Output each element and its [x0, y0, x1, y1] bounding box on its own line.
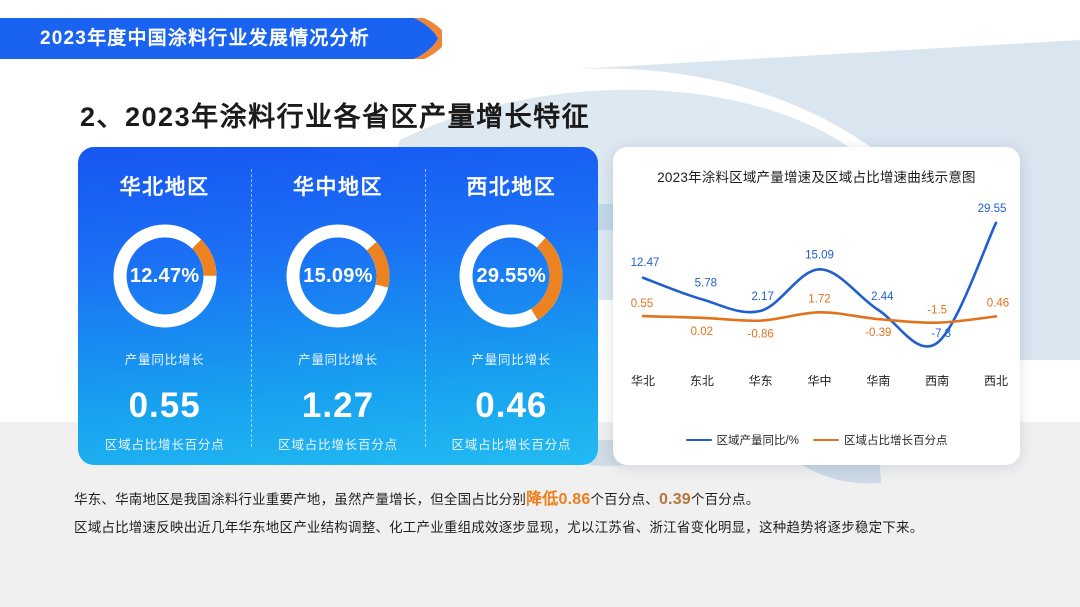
chart-value-label: -0.86	[748, 329, 774, 341]
bottom-text-line-1: 华东、华南地区是我国涂料行业重要产地，虽然产量增长，但全国占比分别降低0.86个…	[74, 486, 1014, 514]
chart-value-label: 1.72	[808, 293, 830, 305]
chart-value-label: 2.17	[751, 291, 773, 303]
chart-value-label: 0.55	[631, 298, 653, 310]
line-chart-card: 2023年涂料区域产量增速及区域占比增速曲线示意图 12.475.782.171…	[613, 147, 1020, 465]
slide-page: 2023年度中国涂料行业发展情况分析 2、2023年涂料行业各省区产量增长特征 …	[0, 0, 1080, 607]
chart-value-label: -0.39	[865, 327, 891, 339]
donut-caption: 产量同比增长	[125, 349, 205, 368]
bottom-text-line-2: 区域占比增速反映出近几年华东地区产业结构调整、化工产业重组成效逐步显现，尤以江苏…	[74, 514, 1014, 542]
bottom-text-block: 华东、华南地区是我国涂料行业重要产地，虽然产量增长，但全国占比分别降低0.86个…	[74, 486, 1014, 542]
chart-legend: 区域产量同比/% 区域占比增长百分点	[613, 432, 1020, 448]
stats-card: 华北地区 12.47% 产量同比增长 0.55 区域占比增长百分点 华中地区 1…	[78, 147, 598, 465]
chart-x-tick-label: 华北	[631, 374, 655, 388]
big-number: 0.55	[129, 388, 201, 423]
donut-value: 15.09%	[279, 217, 397, 335]
legend-label: 区域产量同比/%	[717, 432, 799, 448]
chart-x-tick-label: 华南	[866, 373, 890, 388]
legend-label: 区域占比增长百分点	[844, 432, 948, 448]
chart-value-label: 12.47	[631, 257, 660, 269]
big-number-caption: 区域占比增长百分点	[451, 434, 571, 453]
legend-item-share: 区域占比增长百分点	[813, 432, 948, 448]
chart-value-label: 5.78	[695, 277, 717, 289]
region-label: 华中地区	[293, 171, 383, 201]
legend-swatch-line	[813, 439, 839, 442]
donut-chart-xibei: 29.55%	[452, 217, 570, 335]
donut-value: 29.55%	[452, 217, 570, 335]
region-label: 西北地区	[466, 171, 556, 201]
bt1-part-a: 华东、华南地区是我国涂料行业重要产地，虽然产量增长，但全国占比分别	[74, 492, 526, 507]
big-number: 1.27	[302, 388, 374, 423]
donut-caption: 产量同比增长	[471, 349, 551, 368]
stat-column-huabei: 华北地区 12.47% 产量同比增长 0.55 区域占比增长百分点	[78, 147, 251, 465]
chart-value-label: 29.55	[978, 203, 1007, 215]
donut-chart-huazhong: 15.09%	[279, 217, 397, 335]
bt1-highlight-1: 降低0.86	[526, 491, 590, 508]
bt1-part-b: 个百分点、	[590, 492, 659, 507]
page-title: 2、2023年涂料行业各省区产量增长特征	[80, 95, 590, 134]
stat-column-xibei: 西北地区 29.55% 产量同比增长 0.46 区域占比增长百分点	[425, 147, 598, 465]
big-number: 0.46	[475, 388, 547, 423]
donut-value: 12.47%	[106, 217, 224, 335]
donut-chart-huabei: 12.47%	[106, 217, 224, 335]
chart-value-label: -1.5	[927, 305, 947, 317]
chart-x-tick-label: 西北	[984, 374, 1008, 388]
big-number-caption: 区域占比增长百分点	[278, 434, 398, 453]
line-chart-plot: 12.475.782.1715.092.44-7.829.550.550.02-…	[613, 187, 1020, 422]
header-banner: 2023年度中国涂料行业发展情况分析	[0, 18, 442, 59]
chart-x-tick-label: 西南	[925, 373, 949, 388]
chart-x-tick-label: 华东	[749, 374, 773, 388]
chart-value-label: 0.02	[691, 326, 713, 338]
region-label: 华北地区	[120, 171, 210, 201]
chart-value-label: 2.44	[871, 291, 894, 303]
banner-title: 2023年度中国涂料行业发展情况分析	[40, 18, 370, 59]
bt1-highlight-2: 0.39	[659, 491, 691, 508]
chart-value-label: 15.09	[805, 249, 834, 261]
chart-x-tick-label: 华中	[807, 373, 831, 388]
chart-value-label: -7.8	[931, 328, 951, 340]
stat-column-huazhong: 华中地区 15.09% 产量同比增长 1.27 区域占比增长百分点	[251, 147, 424, 465]
legend-swatch-line	[686, 439, 712, 442]
chart-x-tick-label: 东北	[690, 374, 714, 388]
chart-value-label: 0.46	[987, 297, 1009, 309]
chart-title: 2023年涂料区域产量增速及区域占比增速曲线示意图	[613, 166, 1020, 186]
big-number-caption: 区域占比增长百分点	[105, 434, 225, 453]
donut-caption: 产量同比增长	[298, 349, 378, 368]
legend-item-production: 区域产量同比/%	[686, 432, 799, 448]
bt1-part-c: 个百分点。	[691, 492, 760, 507]
